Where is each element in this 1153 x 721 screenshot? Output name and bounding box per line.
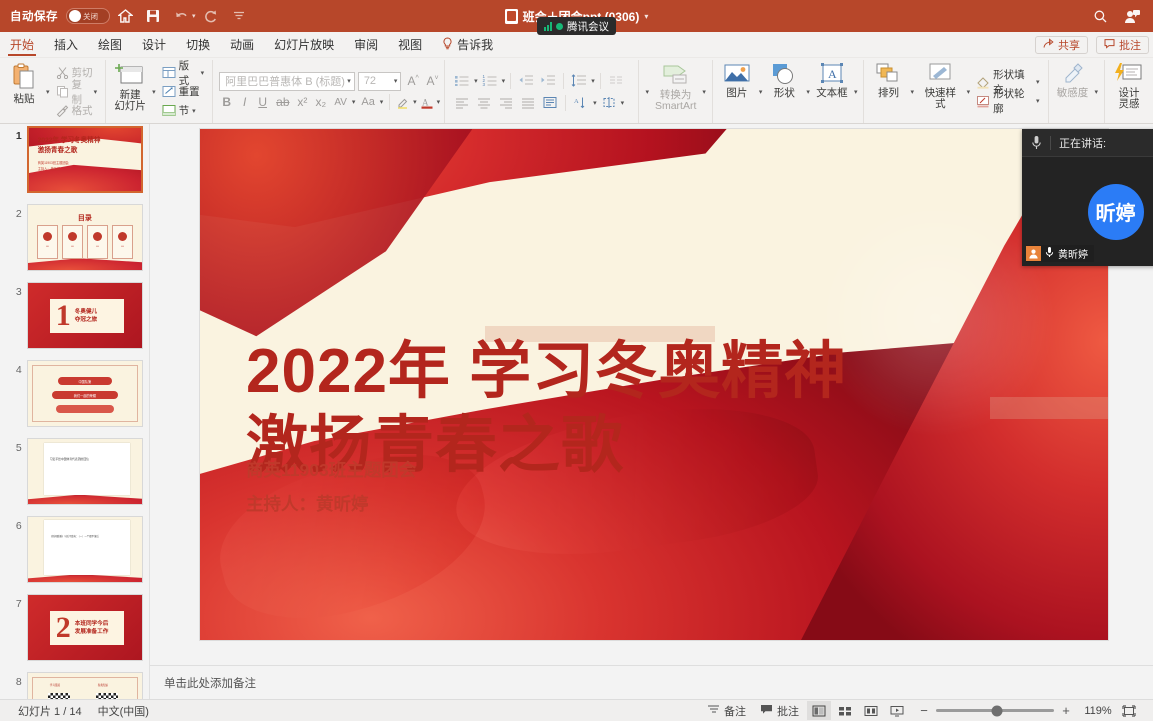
thumbnail-slide-2[interactable]: 目录 ••• ••• ••• •••	[27, 204, 143, 271]
shape-outline-button[interactable]: 形状轮廓 ▾	[974, 92, 1041, 110]
autosave-toggle[interactable]: 关闭	[66, 8, 110, 24]
change-case-button[interactable]: Aa	[358, 96, 376, 108]
thumbnail-slide-8[interactable]: 学习链接 冬奥知识	[27, 672, 143, 699]
main-area: 1 2022年 学习冬奥精神 激扬青春之歌 商英11903班主题团会 主持人：黄…	[0, 124, 1153, 699]
powerpoint-file-icon	[505, 9, 518, 24]
notes-icon	[707, 704, 720, 718]
thumb8-qr-2	[96, 693, 118, 699]
paragraph-divider-3	[600, 73, 601, 89]
decrease-font-size-button[interactable]: A˅	[423, 74, 440, 88]
tab-view[interactable]: 视图	[388, 32, 432, 57]
font-name-input[interactable]: 阿里巴巴普惠体 B (标题) ▾	[219, 72, 355, 91]
shape-fill-icon	[976, 76, 990, 89]
section-icon	[162, 104, 176, 117]
tab-review[interactable]: 审阅	[344, 32, 388, 57]
undo-dropdown-caret[interactable]: ▾	[192, 12, 196, 20]
copy-dropdown-caret[interactable]: ▾	[94, 88, 98, 96]
thumbnail-number-2: 2	[6, 204, 22, 220]
arrange-icon	[874, 62, 902, 86]
tencent-meeting-badge[interactable]: 腾讯会议	[537, 17, 616, 35]
shapes-label: 形状	[774, 88, 795, 99]
tencent-meeting-panel[interactable]: 正在讲话: 昕婷 黄昕婷	[1022, 129, 1153, 266]
reset-label: 重置	[179, 84, 200, 99]
design-ideas-label: 设计 灵感	[1119, 88, 1140, 110]
align-objects-icon[interactable]	[599, 93, 619, 112]
thumb7-plaque: 2 本班同学今后 发展准备工作	[50, 611, 124, 645]
tab-home-label: 开始	[10, 36, 34, 53]
tab-transitions[interactable]: 切换	[176, 32, 220, 57]
thumb2-card-2: •••	[62, 225, 83, 259]
textbox-dropdown[interactable]: ▾	[852, 60, 860, 123]
thumbnail-row-4[interactable]: 4 中国队第 我们一起的荣耀	[0, 360, 149, 438]
sensitivity-button[interactable]: 敏感度	[1053, 60, 1093, 123]
thumb2-card-1: •••	[37, 225, 58, 259]
signal-bars-icon	[544, 22, 552, 31]
tab-transitions-label: 切换	[186, 36, 210, 53]
tab-animations[interactable]: 动画	[220, 32, 264, 57]
participant-mic-icon	[1045, 245, 1054, 263]
slide-subtitle-line2[interactable]: 主持人：黄昕婷	[246, 491, 369, 516]
layout-button[interactable]: 版式 ▾	[160, 64, 207, 82]
zoom-level-label[interactable]: 119%	[1081, 705, 1115, 717]
numbered-list-icon[interactable]: 123	[480, 71, 500, 90]
paragraph-divider-4	[565, 95, 566, 111]
textbox-button[interactable]: A 文本框	[812, 60, 852, 123]
tab-slideshow-label: 幻灯片放映	[274, 36, 334, 53]
thumbnail-slide-1[interactable]: 2022年 学习冬奥精神 激扬青春之歌 商英11903班主题团会 主持人：黄昕婷	[27, 126, 143, 193]
new-slide-label: 新建 幻灯片	[114, 90, 146, 112]
tencent-meeting-label: 腾讯会议	[567, 19, 609, 34]
font-row-1: 阿里巴巴普惠体 B (标题) ▾ 72 ▾ A^ A˅	[217, 71, 440, 92]
font-name-value: 阿里巴巴普惠体 B (标题)	[225, 73, 345, 89]
thumb1-sub2: 主持人：黄昕婷	[38, 166, 60, 173]
font-size-input[interactable]: 72 ▾	[358, 72, 402, 91]
autosave-label: 自动保存	[10, 8, 58, 24]
paste-icon	[9, 62, 39, 92]
quick-styles-dropdown[interactable]: ▾	[965, 60, 973, 123]
tencent-video-area[interactable]: 昕婷 黄昕婷	[1022, 157, 1153, 266]
comment-bubble-icon	[760, 704, 773, 718]
slideshow-icon[interactable]	[885, 701, 909, 720]
paragraph-row-1: ▾ 123 ▾ ▾	[449, 70, 634, 92]
new-slide-label-line2: 幻灯片	[114, 100, 146, 112]
increase-indent-icon[interactable]	[538, 71, 558, 90]
tab-animations-label: 动画	[230, 36, 254, 53]
quick-access-toolbar: 自动保存 关闭 ▾	[0, 3, 252, 29]
avatar: 昕婷	[1088, 184, 1144, 240]
change-case-caret[interactable]: ▾	[380, 98, 384, 106]
slide-editing-stage[interactable]: 2022年 学习冬奥精神 激扬青春之歌 商英11903班主题团会 主持人：黄昕婷…	[150, 124, 1153, 699]
share-icon	[1043, 38, 1054, 52]
thumbnail-slide-5[interactable]: 习近平给中国体育代表团的回信	[27, 438, 143, 505]
ribbon: 粘贴 ▾ 剪切 复制 ▾ 格式	[0, 58, 1153, 124]
normal-view-icon[interactable]	[807, 701, 831, 720]
notes-placeholder: 单击此处添加备注	[150, 675, 256, 691]
save-icon[interactable]	[140, 3, 166, 29]
thumb4-pill-2: 我们一起的荣耀	[52, 391, 118, 399]
tencent-panel-header: 正在讲话:	[1022, 129, 1153, 157]
comment-icon	[1104, 38, 1115, 52]
convert-smartart-line2: SmartArt	[655, 100, 696, 112]
thumbnail-number-5: 5	[6, 438, 22, 454]
fit-to-window-icon[interactable]	[1117, 701, 1141, 720]
thumbnail-number-3: 3	[6, 282, 22, 298]
thumb2-card-3: •••	[87, 225, 108, 259]
layout-icon	[162, 66, 176, 79]
zoom-slider-handle[interactable]	[992, 705, 1003, 716]
thumbnail-row-1[interactable]: 1 2022年 学习冬奥精神 激扬青春之歌 商英11903班主题团会 主持人：黄…	[0, 126, 149, 204]
ribbon-group-designer: 设计 灵感	[1104, 60, 1153, 123]
current-slide[interactable]: 2022年 学习冬奥精神 激扬青春之歌 商英11903班主题团会 主持人：黄昕婷	[200, 129, 1108, 640]
picture-icon	[723, 62, 751, 86]
quick-styles-icon	[926, 62, 954, 86]
section-label: 节	[179, 103, 190, 118]
svg-text:A: A	[574, 98, 579, 105]
new-slide-dropdown[interactable]: ▾	[150, 60, 158, 123]
autosave-toggle-knob	[69, 10, 81, 22]
text-direction-caret[interactable]: ▾	[593, 99, 597, 107]
thumb3-plaque: 1 冬奥健儿 夺冠之旅	[50, 299, 124, 333]
microphone-icon[interactable]	[1022, 135, 1050, 150]
title-bar: 自动保存 关闭 ▾ 班会＋团会ppt (0306) ▾	[0, 0, 1153, 32]
tab-design[interactable]: 设计	[132, 32, 176, 57]
reset-button[interactable]: 重置	[160, 83, 207, 101]
thumbnail-row-7[interactable]: 7 2 本班同学今后 发展准备工作	[0, 594, 149, 672]
comments-status-label: 批注	[777, 703, 799, 719]
titlebar-right-controls	[1087, 3, 1153, 29]
share-button[interactable]: 共享	[1035, 36, 1088, 54]
new-slide-icon	[115, 62, 145, 88]
thumb3-line1: 冬奥健儿	[75, 309, 97, 315]
thumbnail-number-4: 4	[6, 360, 22, 376]
ribbon-group-smartart: ▾ 转换为 SmartArt ▾	[638, 60, 711, 123]
customize-quick-access-icon[interactable]	[226, 3, 252, 29]
format-painter-button[interactable]: 格式	[54, 102, 100, 120]
zoom-control[interactable]: − +	[911, 703, 1079, 718]
align-right-icon[interactable]	[496, 93, 516, 112]
increase-font-size-button[interactable]: A^	[404, 74, 420, 88]
font-color-icon[interactable]: A	[420, 96, 434, 109]
text-direction-icon[interactable]: A	[571, 93, 591, 112]
thumbnail-slide-6[interactable]: 《新闻联播》习近平致电：（一）一个都不落后	[27, 516, 143, 583]
person-icon	[1026, 246, 1041, 261]
tab-insert-label: 插入	[54, 36, 78, 53]
clipboard-small-commands: 剪切 复制 ▾ 格式	[52, 60, 102, 123]
thumbnail-number-7: 7	[6, 594, 22, 610]
text-highlight-icon[interactable]	[396, 96, 410, 109]
shape-outline-label: 形状轮廓	[993, 86, 1033, 116]
notes-pane[interactable]: 单击此处添加备注	[150, 665, 1153, 699]
smartart-dropdown[interactable]: ▾	[700, 60, 708, 123]
zoom-in-button[interactable]: +	[1061, 703, 1071, 718]
tab-review-label: 审阅	[354, 36, 378, 53]
zoom-out-button[interactable]: −	[919, 703, 929, 718]
tencent-participant-bar: 黄昕婷	[1026, 245, 1094, 262]
align-center-icon[interactable]	[474, 93, 494, 112]
thumb4-pill-3	[56, 405, 114, 413]
thumb7-line2: 发展准备工作	[75, 629, 109, 635]
thumb2-card3-dot	[93, 232, 102, 241]
status-bar: 幻灯片 1 / 14 中文(中国) 备注 批注 −	[0, 699, 1153, 721]
share-label: 共享	[1058, 37, 1080, 53]
slide-counter[interactable]: 幻灯片 1 / 14	[18, 703, 82, 719]
align-objects-caret[interactable]: ▾	[621, 99, 625, 107]
paragraph-divider-1	[510, 73, 511, 89]
thumb8-qr-1	[48, 693, 70, 699]
slide-sorter-icon[interactable]	[833, 701, 857, 720]
arrange-label: 排列	[878, 88, 899, 99]
align-text-icon[interactable]	[540, 93, 560, 112]
speaking-label: 正在讲话:	[1059, 135, 1106, 151]
paragraph-row-2: A ▾ ▾	[449, 92, 634, 114]
columns-icon[interactable]	[606, 71, 626, 90]
search-icon[interactable]	[1087, 3, 1113, 29]
paste-dropdown[interactable]: ▾	[44, 60, 52, 123]
title-highlight-band-2	[990, 397, 1108, 419]
underline-button[interactable]: U	[255, 95, 270, 109]
thumb3-text: 冬奥健儿 夺冠之旅	[75, 308, 97, 324]
textbox-icon: A	[818, 62, 846, 86]
svg-text:A: A	[828, 67, 837, 81]
tab-tell-me-label: 告诉我	[457, 36, 493, 53]
meeting-status-dot-icon	[556, 23, 563, 30]
strikethrough-button[interactable]: ab	[273, 95, 291, 109]
status-bar-right: 备注 批注 − + 119%	[701, 701, 1153, 721]
slide-subtitle-line1[interactable]: 商英11903班主题团会	[246, 457, 416, 482]
format-painter-icon	[56, 104, 69, 117]
character-spacing-caret[interactable]: ▾	[352, 98, 356, 106]
thumb6-doc-heading: 《新闻联播》习近平致电：（一）一个都不落后	[50, 535, 99, 538]
sensitivity-icon	[1059, 62, 1087, 86]
shapes-icon	[770, 62, 798, 86]
thumb2-cards: ••• ••• ••• •••	[37, 225, 133, 259]
quick-styles-label: 快速样式	[920, 88, 961, 110]
thumbnail-row-6[interactable]: 6 《新闻联播》习近平致电：（一）一个都不落后	[0, 516, 149, 594]
bold-button[interactable]: B	[219, 95, 234, 109]
font-row-2: B I U ab x² x₂ AV ▾ Aa ▾ ▾ A ▾	[217, 92, 440, 113]
thumbnail-slide-4[interactable]: 中国队第 我们一起的荣耀	[27, 360, 143, 427]
character-spacing-button[interactable]: AV	[331, 97, 349, 108]
reset-icon	[162, 85, 176, 98]
thumbnail-row-5[interactable]: 5 习近平给中国体育代表团的回信	[0, 438, 149, 516]
slide-thumbnail-panel[interactable]: 1 2022年 学习冬奥精神 激扬青春之歌 商英11903班主题团会 主持人：黄…	[0, 124, 150, 699]
design-ideas-line2: 灵感	[1119, 98, 1140, 110]
format-painter-label: 格式	[72, 103, 93, 118]
font-size-value: 72	[364, 75, 376, 87]
participant-name: 黄昕婷	[1058, 246, 1088, 261]
ribbon-group-clipboard: 粘贴 ▾ 剪切 复制 ▾ 格式	[0, 60, 105, 123]
title-dropdown-caret[interactable]: ▾	[644, 12, 648, 21]
bullet-list-icon[interactable]	[452, 71, 472, 90]
autosave-state-label: 关闭	[83, 11, 98, 22]
font-name-dropdown-caret[interactable]: ▾	[347, 77, 351, 85]
thumbnail-slide-7[interactable]: 2 本班同学今后 发展准备工作	[27, 594, 143, 661]
tab-draw-label: 绘图	[98, 36, 122, 53]
design-ideas-button[interactable]: 设计 灵感	[1109, 60, 1149, 123]
decrease-indent-icon[interactable]	[516, 71, 536, 90]
thumb2-card-4: •••	[112, 225, 133, 259]
zoom-slider[interactable]	[936, 709, 1054, 712]
section-dropdown-caret[interactable]: ▾	[192, 107, 196, 115]
convert-smartart-icon	[661, 62, 691, 88]
ribbon-group-drawing: 排列 ▾ 快速样式 ▾ 形状填充 ▾	[863, 60, 1047, 123]
account-icon[interactable]	[1119, 3, 1145, 29]
thumbnail-slide-3[interactable]: 1 冬奥健儿 夺冠之旅	[27, 282, 143, 349]
thumbnail-number-1: 1	[6, 126, 22, 142]
ribbon-group-sensitivity: 敏感度 ▾	[1048, 60, 1105, 123]
line-spacing-icon[interactable]	[569, 71, 589, 90]
comments-label: 批注	[1119, 37, 1141, 53]
ribbon-group-insert: 图片 ▾ 形状 ▾ A 文本框 ▾	[712, 60, 864, 123]
slide-title-line1: 2022年 学习冬奥精神	[246, 337, 847, 406]
justify-icon[interactable]	[518, 93, 538, 112]
lightbulb-icon	[442, 37, 453, 53]
ribbon-group-slides: 新建 幻灯片 ▾ 版式 ▾ 重置	[105, 60, 212, 123]
thumb1-title-line1: 2022年 学习冬奥精神	[38, 137, 101, 144]
status-bar-left: 幻灯片 1 / 14 中文(中国)	[0, 703, 149, 719]
line-spacing-caret[interactable]: ▾	[591, 77, 595, 85]
thumbnail-row-3[interactable]: 3 1 冬奥健儿 夺冠之旅	[0, 282, 149, 360]
tab-insert[interactable]: 插入	[44, 32, 88, 57]
thumb2-card2-dot	[68, 232, 77, 241]
thumb7-number: 2	[56, 613, 71, 643]
thumb1-title-line2: 激扬青春之歌	[38, 147, 78, 154]
align-left-icon[interactable]	[452, 93, 472, 112]
shape-fill-caret[interactable]: ▾	[1036, 78, 1040, 86]
thumb2-heading: 目录	[28, 213, 142, 223]
thumb8-label-2: 冬奥知识	[98, 683, 108, 687]
paste-label: 粘贴	[14, 94, 35, 105]
arrange-button[interactable]: 排列	[868, 60, 908, 123]
picture-button[interactable]: 图片	[717, 60, 757, 123]
italic-button[interactable]: I	[237, 95, 252, 109]
redo-icon[interactable]	[198, 3, 224, 29]
font-size-dropdown-caret[interactable]: ▾	[394, 77, 398, 85]
svg-text:3: 3	[482, 82, 485, 87]
notes-button-label: 备注	[724, 703, 746, 719]
tab-view-label: 视图	[398, 36, 422, 53]
svg-text:A: A	[422, 97, 429, 107]
copy-icon	[56, 85, 69, 98]
layout-dropdown-caret[interactable]: ▾	[201, 69, 205, 77]
shapes-button[interactable]: 形状	[764, 60, 804, 123]
convert-smartart-label: 转换为 SmartArt	[655, 90, 696, 112]
font-color-caret[interactable]: ▾	[437, 98, 441, 106]
thumb4-pill-1: 中国队第	[58, 377, 112, 385]
ribbon-tab-bar: 开始 插入 绘图 设计 切换 动画 幻灯片放映 审阅 视图 告诉我 共享 批注	[0, 32, 1153, 58]
tab-home[interactable]: 开始	[0, 32, 44, 57]
slides-small-commands: 版式 ▾ 重置 节 ▾	[158, 60, 209, 123]
undo-icon[interactable]	[168, 3, 194, 29]
shape-format-commands: 形状填充 ▾ 形状轮廓 ▾	[972, 60, 1043, 123]
comments-status-button[interactable]: 批注	[754, 701, 805, 721]
thumb5-doc-heading: 习近平给中国体育代表团的回信	[50, 457, 89, 461]
superscript-button[interactable]: x²	[294, 95, 309, 109]
reading-view-icon[interactable]	[859, 701, 883, 720]
font-divider	[389, 94, 390, 110]
shapes-dropdown[interactable]: ▾	[804, 60, 812, 123]
sensitivity-dropdown[interactable]: ▾	[1093, 60, 1101, 123]
design-ideas-icon	[1114, 62, 1144, 86]
text-highlight-caret[interactable]: ▾	[413, 98, 417, 106]
section-button[interactable]: 节 ▾	[160, 102, 207, 120]
language-indicator[interactable]: 中文(中国)	[98, 703, 149, 719]
picture-dropdown[interactable]: ▾	[757, 60, 765, 123]
convert-to-smartart-button[interactable]: 转换为 SmartArt	[651, 60, 700, 123]
bullet-list-caret[interactable]: ▾	[474, 77, 478, 85]
copy-button[interactable]: 复制 ▾	[54, 83, 100, 101]
thumb3-line2: 夺冠之旅	[75, 317, 97, 323]
thumbnail-number-8: 8	[6, 672, 22, 688]
tab-slideshow[interactable]: 幻灯片放映	[264, 32, 344, 57]
thumb6-document: 《新闻联播》习近平致电：（一）一个都不落后	[44, 520, 130, 575]
scissors-icon	[56, 66, 69, 79]
shape-outline-icon	[976, 95, 990, 108]
picture-label: 图片	[726, 88, 747, 99]
quick-styles-button[interactable]: 快速样式	[916, 60, 965, 123]
thumbnail-row-8[interactable]: 8 学习链接 冬奥知识	[0, 672, 149, 699]
paragraph-divider-2	[563, 73, 564, 89]
sensitivity-label: 敏感度	[1057, 88, 1089, 99]
thumb7-line1: 本班同学今后	[75, 621, 109, 627]
thumb3-number: 1	[56, 301, 71, 331]
tab-bar-spacer	[503, 32, 1031, 57]
new-slide-button[interactable]: 新建 幻灯片	[110, 60, 150, 123]
smartart-left-caret[interactable]: ▾	[643, 60, 651, 123]
ribbon-group-paragraph: ▾ 123 ▾ ▾	[444, 60, 638, 123]
arrange-dropdown[interactable]: ▾	[908, 60, 916, 123]
thumbnail-number-6: 6	[6, 516, 22, 532]
thumb8-label-1: 学习链接	[50, 683, 60, 687]
numbered-list-caret[interactable]: ▾	[502, 77, 506, 85]
comments-button[interactable]: 批注	[1096, 36, 1149, 54]
shape-outline-caret[interactable]: ▾	[1036, 97, 1040, 105]
home-icon[interactable]	[112, 3, 138, 29]
tencent-header-divider	[1050, 136, 1051, 150]
subscript-button[interactable]: x₂	[313, 95, 329, 109]
paste-button[interactable]: 粘贴	[4, 60, 44, 123]
notes-button[interactable]: 备注	[701, 701, 752, 721]
thumb7-text: 本班同学今后 发展准备工作	[75, 620, 109, 636]
tab-draw[interactable]: 绘图	[88, 32, 132, 57]
ribbon-group-font: 阿里巴巴普惠体 B (标题) ▾ 72 ▾ A^ A˅ B I U ab x² …	[212, 60, 444, 123]
tab-design-label: 设计	[142, 36, 166, 53]
thumb5-document: 习近平给中国体育代表团的回信	[44, 443, 130, 495]
thumbnail-row-2[interactable]: 2 目录 ••• ••• ••• •••	[0, 204, 149, 282]
thumb2-card1-dot	[43, 232, 52, 241]
tab-tell-me[interactable]: 告诉我	[432, 32, 503, 57]
textbox-label: 文本框	[816, 88, 848, 99]
thumb2-card4-dot	[118, 232, 127, 241]
